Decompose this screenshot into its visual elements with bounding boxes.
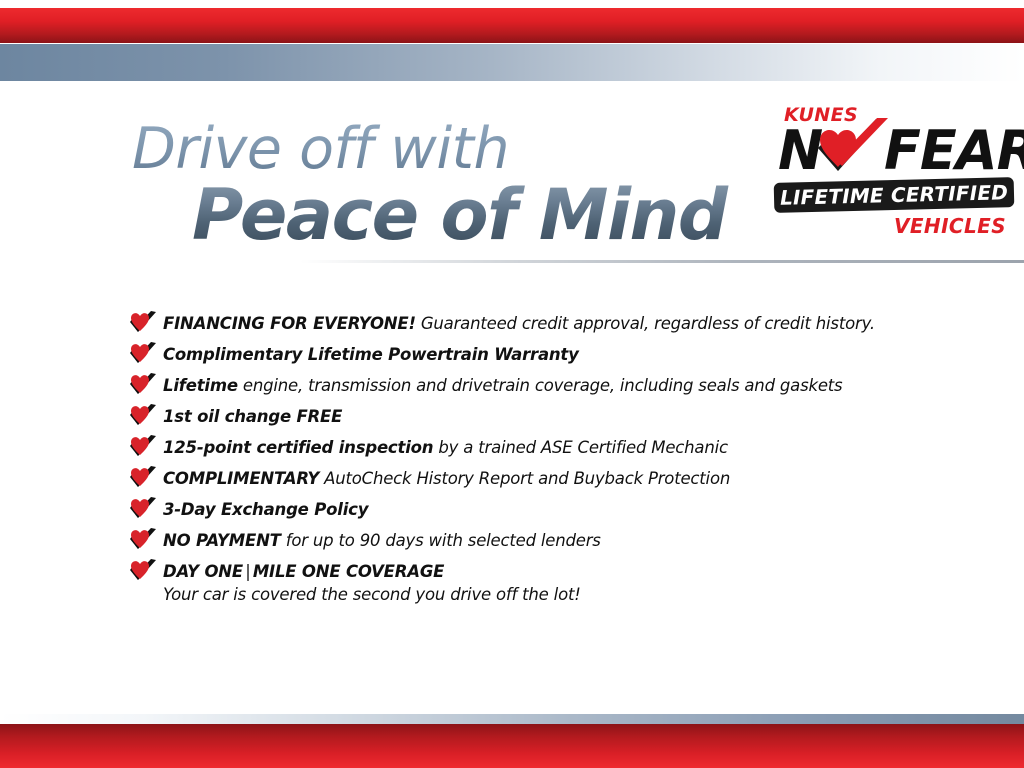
list-item: Complimentary Lifetime Powertrain Warran…: [128, 339, 928, 370]
check-heart-icon: [128, 466, 158, 490]
check-heart-icon: [128, 559, 158, 583]
list-item: 3-Day Exchange Policy: [128, 494, 928, 525]
list-item-text: Lifetime engine, transmission and drivet…: [163, 376, 842, 395]
logo-word-fear: FEAR: [884, 122, 1024, 180]
list-item-subline: Your car is covered the second you drive…: [128, 585, 928, 604]
advertisement-canvas: Drive off with Peace of Mind KUNES N FEA…: [0, 0, 1024, 768]
check-heart-icon: [128, 342, 158, 366]
list-item-text: 125-point certified inspection by a trai…: [163, 438, 728, 457]
list-item-lead: FINANCING FOR EVERYONE!: [163, 314, 416, 333]
check-heart-icon: [128, 404, 158, 428]
list-item-lead: NO PAYMENT: [163, 531, 281, 550]
list-item-lead: COMPLIMENTARY: [163, 469, 319, 488]
list-item-text: NO PAYMENT for up to 90 days with select…: [163, 531, 601, 550]
logo-vehicles-text: VEHICLES: [894, 214, 1006, 238]
logo-certified-bar: LIFETIME CERTIFIED: [774, 177, 1015, 213]
check-heart-icon: [128, 435, 158, 459]
list-item-text: 1st oil change FREE: [163, 407, 342, 426]
list-item-lead-2: MILE ONE COVERAGE: [253, 562, 444, 581]
list-item: 1st oil change FREE: [128, 401, 928, 432]
list-item: NO PAYMENT for up to 90 days with select…: [128, 525, 928, 556]
check-heart-icon: [128, 528, 158, 552]
list-item: Lifetime engine, transmission and drivet…: [128, 370, 928, 401]
header-divider: [300, 260, 1024, 263]
top-blue-gray-band: [0, 44, 1024, 81]
list-item-text: FINANCING FOR EVERYONE! Guaranteed credi…: [163, 314, 875, 333]
list-item-text: Complimentary Lifetime Powertrain Warran…: [163, 345, 579, 364]
list-item-lead: 3-Day Exchange Policy: [163, 500, 368, 519]
list-item-lead: 1st oil change FREE: [163, 407, 342, 426]
logo-certified-text: LIFETIME CERTIFIED: [774, 177, 1015, 213]
list-item: 125-point certified inspection by a trai…: [128, 432, 928, 463]
check-heart-icon: [812, 118, 892, 188]
list-item-rest: by a trained ASE Certified Mechanic: [433, 438, 728, 457]
list-item-text: 3-Day Exchange Policy: [163, 500, 368, 519]
list-item-text: COMPLIMENTARY AutoCheck History Report a…: [163, 469, 730, 488]
list-item-rest: engine, transmission and drivetrain cove…: [238, 376, 843, 395]
list-item-rest: Guaranteed credit approval, regardless o…: [416, 314, 875, 333]
list-item: COMPLIMENTARY AutoCheck History Report a…: [128, 463, 928, 494]
benefits-list: FINANCING FOR EVERYONE! Guaranteed credi…: [128, 308, 928, 604]
list-item-separator: |: [243, 562, 253, 581]
headline-line-1: Drive off with: [132, 122, 752, 178]
bottom-red-band: [0, 724, 1024, 768]
list-item-rest: AutoCheck History Report and Buyback Pro…: [319, 469, 730, 488]
list-item-lead: 125-point certified inspection: [163, 438, 433, 457]
check-heart-icon: [128, 497, 158, 521]
list-item-rest: for up to 90 days with selected lenders: [281, 531, 601, 550]
list-item-lead: Complimentary Lifetime Powertrain Warran…: [163, 345, 579, 364]
logo-wordmark: N FEAR: [778, 122, 1016, 180]
list-item-lead: Lifetime: [163, 376, 238, 395]
list-item-lead: DAY ONE: [163, 562, 243, 581]
list-item-text: DAY ONE|MILE ONE COVERAGE: [163, 562, 444, 581]
top-red-band: [0, 8, 1024, 43]
headline: Drive off with Peace of Mind: [132, 122, 752, 250]
headline-line-2: Peace of Mind: [192, 180, 752, 250]
list-item: DAY ONE|MILE ONE COVERAGE: [128, 556, 928, 587]
kunes-no-fear-logo: KUNES N FEAR LIFETIME CERTIFIED VEHICLES: [772, 104, 1016, 250]
check-heart-icon: [128, 311, 158, 335]
list-item: FINANCING FOR EVERYONE! Guaranteed credi…: [128, 308, 928, 339]
check-heart-icon: [128, 373, 158, 397]
